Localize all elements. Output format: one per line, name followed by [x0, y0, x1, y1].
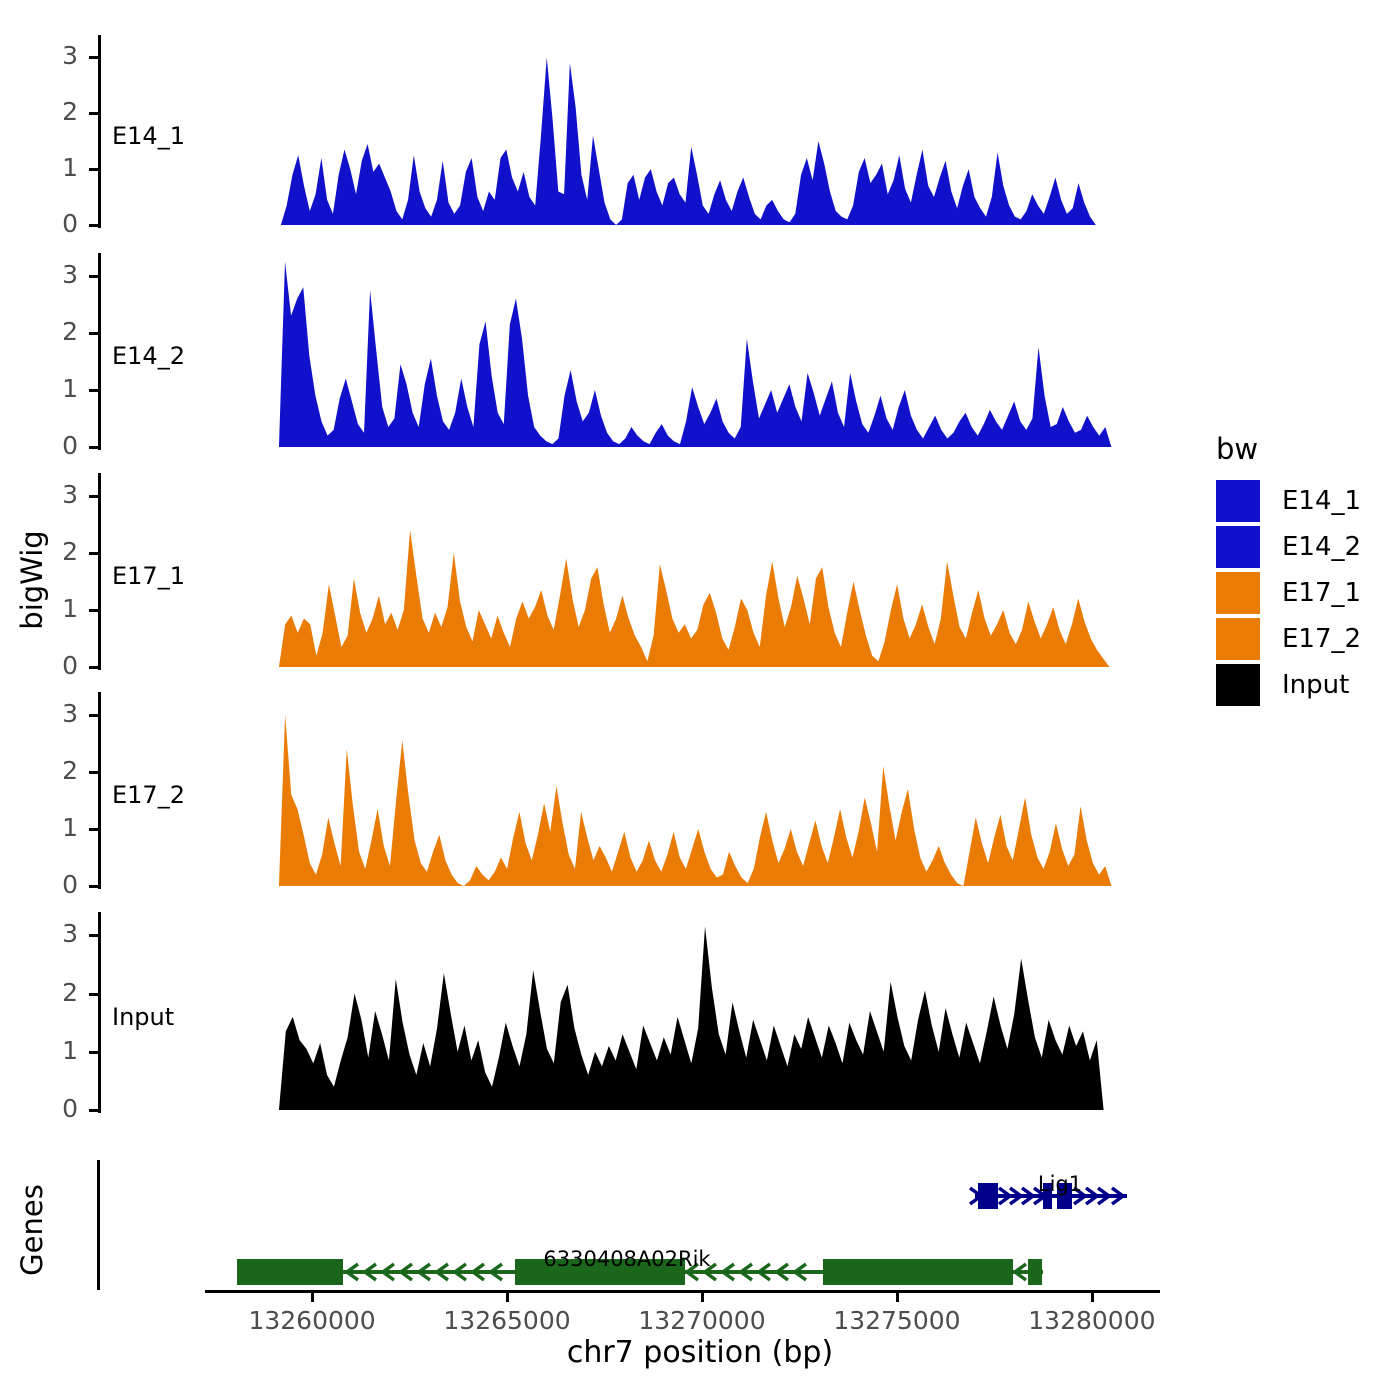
- x-tick-label: 13280000: [1002, 1306, 1182, 1335]
- legend-label-e17_1: E17_1: [1282, 578, 1361, 608]
- x-tick-mark: [311, 1293, 314, 1302]
- gene-label-rik: 6330408A02Rik: [477, 1247, 777, 1271]
- x-axis-title: chr7 position (bp): [0, 1335, 1400, 1370]
- legend-title: bw: [1216, 432, 1258, 466]
- x-tick-label: 13275000: [807, 1306, 987, 1335]
- legend-swatch-e14_1[interactable]: [1216, 480, 1260, 522]
- legend-label-e14_2: E14_2: [1282, 532, 1361, 562]
- x-tick-mark: [701, 1293, 704, 1302]
- x-tick-mark: [896, 1293, 899, 1302]
- x-tick-mark: [1091, 1293, 1094, 1302]
- legend-swatch-input[interactable]: [1216, 664, 1260, 706]
- x-tick-label: 13270000: [612, 1306, 792, 1335]
- genes-axis-line: [97, 1160, 100, 1290]
- x-tick-label: 13260000: [222, 1306, 402, 1335]
- legend-label-e14_1: E14_1: [1282, 486, 1361, 516]
- x-tick-mark: [506, 1293, 509, 1302]
- gene-label-lig1: Lig1: [910, 1172, 1210, 1196]
- legend-swatch-e14_2[interactable]: [1216, 526, 1260, 568]
- genes-panel: [0, 0, 1400, 160]
- legend-label-input: Input: [1282, 670, 1349, 700]
- x-tick-label: 13265000: [417, 1306, 597, 1335]
- legend-swatch-e17_2[interactable]: [1216, 618, 1260, 660]
- legend-swatch-e17_1[interactable]: [1216, 572, 1260, 614]
- x-axis-line: [205, 1290, 1160, 1293]
- legend-label-e17_2: E17_2: [1282, 624, 1361, 654]
